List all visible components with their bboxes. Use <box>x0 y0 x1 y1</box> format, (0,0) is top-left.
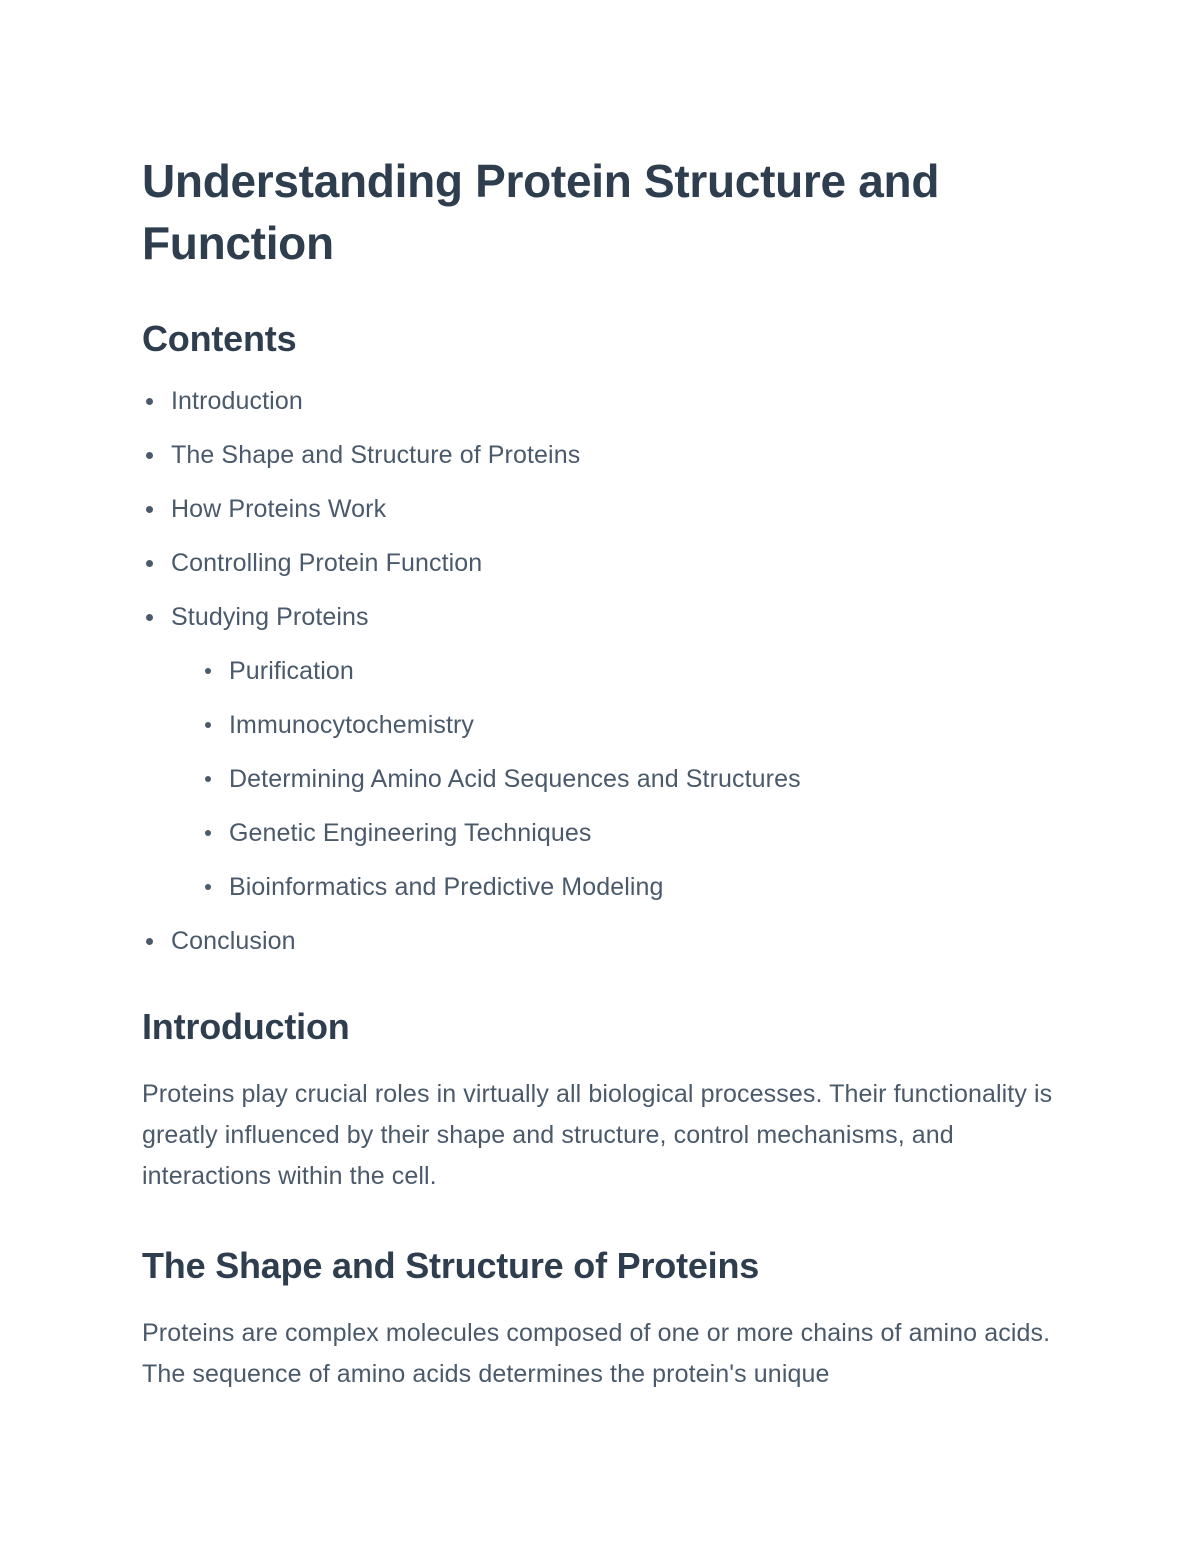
toc-item-how-proteins-work[interactable]: How Proteins Work <box>142 492 1058 526</box>
toc-subitem-immunocytochemistry[interactable]: Immunocytochemistry <box>201 708 1058 742</box>
toc-subitem-label: Immunocytochemistry <box>229 711 474 739</box>
section-heading-shape-and-structure: The Shape and Structure of Proteins <box>142 1243 1058 1289</box>
toc-subitem-label: Purification <box>229 657 354 685</box>
toc-item-label: Conclusion <box>171 927 296 955</box>
table-of-contents: Introduction The Shape and Structure of … <box>142 384 1058 958</box>
toc-item-studying-proteins[interactable]: Studying Proteins Purification Immunocyt… <box>142 600 1058 904</box>
toc-subitem-purification[interactable]: Purification <box>201 654 1058 688</box>
section-paragraph-introduction: Proteins play crucial roles in virtually… <box>142 1074 1058 1197</box>
contents-heading: Contents <box>142 316 1058 362</box>
toc-item-controlling-protein-function[interactable]: Controlling Protein Function <box>142 546 1058 580</box>
toc-subitem-label: Bioinformatics and Predictive Modeling <box>229 873 664 901</box>
toc-subitem-determining-amino-acid-sequences[interactable]: Determining Amino Acid Sequences and Str… <box>201 762 1058 796</box>
toc-item-shape-and-structure[interactable]: The Shape and Structure of Proteins <box>142 438 1058 472</box>
toc-item-label: The Shape and Structure of Proteins <box>171 441 580 469</box>
toc-item-label: How Proteins Work <box>171 495 386 523</box>
toc-subitem-label: Genetic Engineering Techniques <box>229 819 592 847</box>
section-paragraph-shape-and-structure: Proteins are complex molecules composed … <box>142 1313 1058 1395</box>
toc-subitem-bioinformatics-and-predictive-modeling[interactable]: Bioinformatics and Predictive Modeling <box>201 870 1058 904</box>
toc-item-label: Studying Proteins <box>171 603 369 631</box>
toc-item-label: Introduction <box>171 387 303 415</box>
document-page: Understanding Protein Structure and Func… <box>0 0 1200 1553</box>
toc-item-label: Controlling Protein Function <box>171 549 482 577</box>
toc-subitem-label: Determining Amino Acid Sequences and Str… <box>229 765 801 793</box>
toc-item-conclusion[interactable]: Conclusion <box>142 924 1058 958</box>
document-body: Understanding Protein Structure and Func… <box>142 150 1058 1395</box>
page-title: Understanding Protein Structure and Func… <box>142 150 1022 274</box>
section-heading-introduction: Introduction <box>142 1004 1058 1050</box>
toc-sublist-studying-proteins: Purification Immunocytochemistry Determi… <box>171 654 1058 904</box>
toc-item-introduction[interactable]: Introduction <box>142 384 1058 418</box>
toc-subitem-genetic-engineering-techniques[interactable]: Genetic Engineering Techniques <box>201 816 1058 850</box>
